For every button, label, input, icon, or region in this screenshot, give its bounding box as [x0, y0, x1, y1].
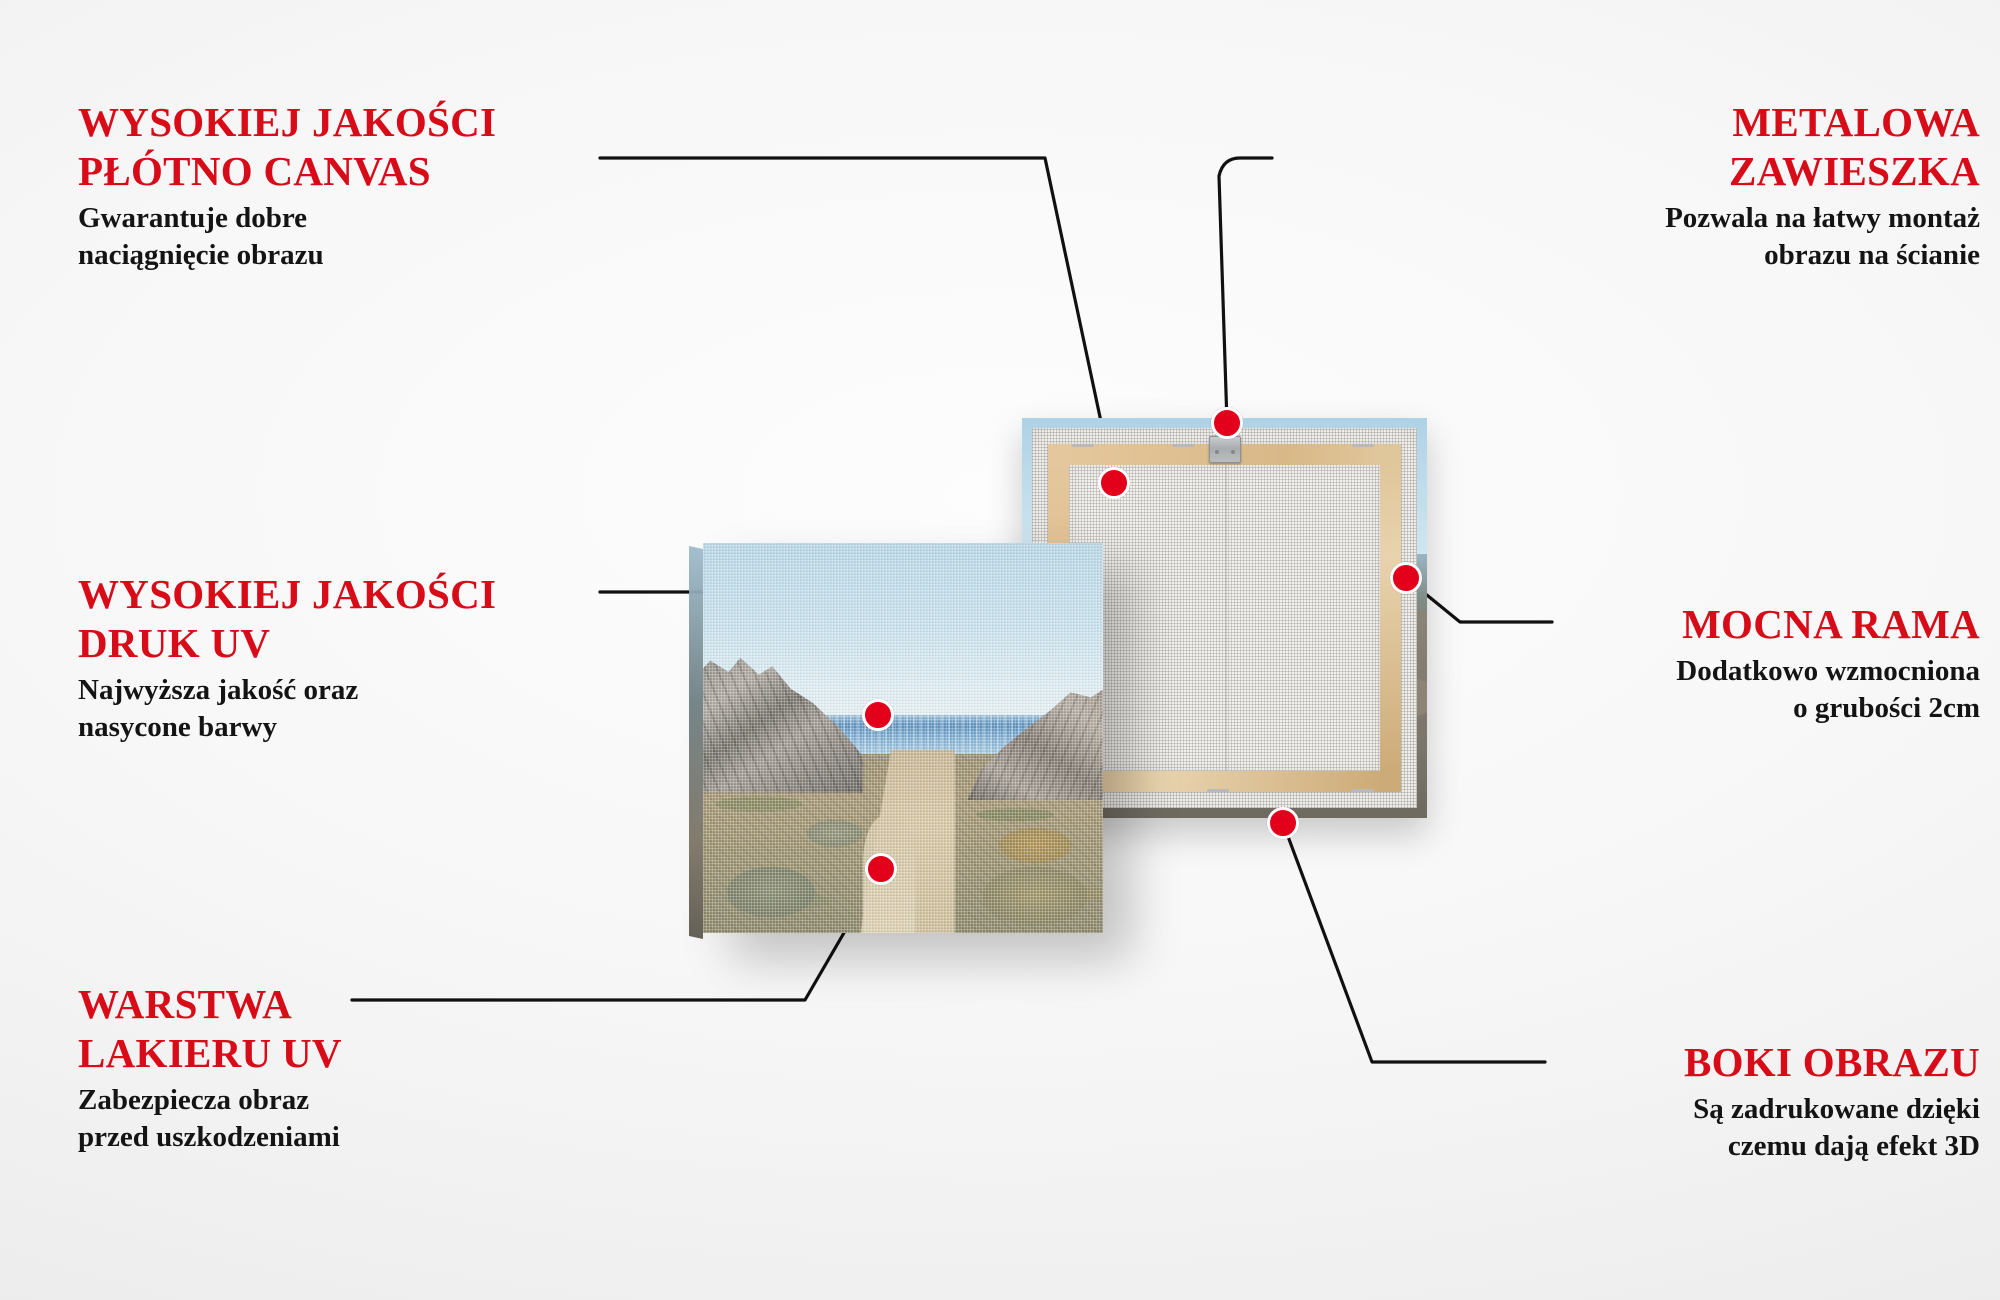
canvas-printed-side-edge — [689, 546, 703, 939]
callout-title-metal-hanger: METALOWA ZAWIESZKA — [1360, 98, 1980, 196]
callout-canvas-quality: WYSOKIEJ JAKOŚCI PŁÓTNO CANVAS Gwarantuj… — [78, 98, 638, 274]
callout-uv-print: WYSOKIEJ JAKOŚCI DRUK UV Najwyższa jakoś… — [78, 570, 638, 746]
marker-uv-lacquer — [865, 853, 897, 885]
landscape-photograph — [703, 543, 1103, 933]
callout-subtitle-picture-sides: Są zadrukowane dzięki czemu dają efekt 3… — [1340, 1091, 1980, 1165]
staple-icon — [1207, 789, 1229, 792]
marker-strong-frame — [1390, 562, 1422, 594]
callout-title-uv-print: WYSOKIEJ JAKOŚCI DRUK UV — [78, 570, 638, 668]
photo-shrub — [807, 820, 863, 847]
callout-title-canvas-quality: WYSOKIEJ JAKOŚCI PŁÓTNO CANVAS — [78, 98, 638, 196]
callout-title-picture-sides: BOKI OBRAZU — [1340, 1038, 1980, 1087]
connector-picture-sides — [1283, 823, 1545, 1062]
metal-hanger-bracket-icon — [1209, 436, 1241, 463]
callout-uv-lacquer: WARSTWA LAKIERU UV Zabezpiecza obraz prz… — [78, 980, 638, 1156]
photo-flowering-shrub — [999, 828, 1071, 863]
callout-subtitle-metal-hanger: Pozwala na łatwy montaż obrazu na ściani… — [1360, 200, 1980, 274]
callout-subtitle-uv-lacquer: Zabezpiecza obraz przed uszkodzeniami — [78, 1082, 638, 1156]
callout-picture-sides: BOKI OBRAZU Są zadrukowane dzięki czemu … — [1340, 1038, 1980, 1165]
staple-icon — [1352, 444, 1374, 447]
marker-picture-sides — [1267, 807, 1299, 839]
photo-shrub — [983, 867, 1087, 926]
callout-title-uv-lacquer: WARSTWA LAKIERU UV — [78, 980, 638, 1078]
callout-title-strong-frame: MOCNA RAMA — [1340, 600, 1980, 649]
marker-metal-hanger — [1211, 407, 1243, 439]
callout-strong-frame: MOCNA RAMA Dodatkowo wzmocniona o gruboś… — [1340, 600, 1980, 727]
callout-subtitle-uv-print: Najwyższa jakość oraz nasycone barwy — [78, 672, 638, 746]
staple-icon — [1072, 444, 1094, 447]
infographic-canvas-product: WYSOKIEJ JAKOŚCI PŁÓTNO CANVAS Gwarantuj… — [0, 0, 2000, 1300]
callout-metal-hanger: METALOWA ZAWIESZKA Pozwala na łatwy mont… — [1360, 98, 1980, 274]
canvas-inner-weave — [1069, 465, 1380, 771]
canvas-front-printed — [703, 543, 1103, 933]
marker-canvas-quality — [1098, 467, 1130, 499]
connector-metal-hanger — [1219, 158, 1272, 423]
marker-uv-print — [862, 699, 894, 731]
callout-subtitle-strong-frame: Dodatkowo wzmocniona o grubości 2cm — [1340, 653, 1980, 727]
callout-subtitle-canvas-quality: Gwarantuje dobre naciągnięcie obrazu — [78, 200, 638, 274]
staple-icon — [1352, 789, 1374, 792]
staple-icon — [1172, 444, 1194, 447]
photo-shrub — [727, 867, 815, 918]
